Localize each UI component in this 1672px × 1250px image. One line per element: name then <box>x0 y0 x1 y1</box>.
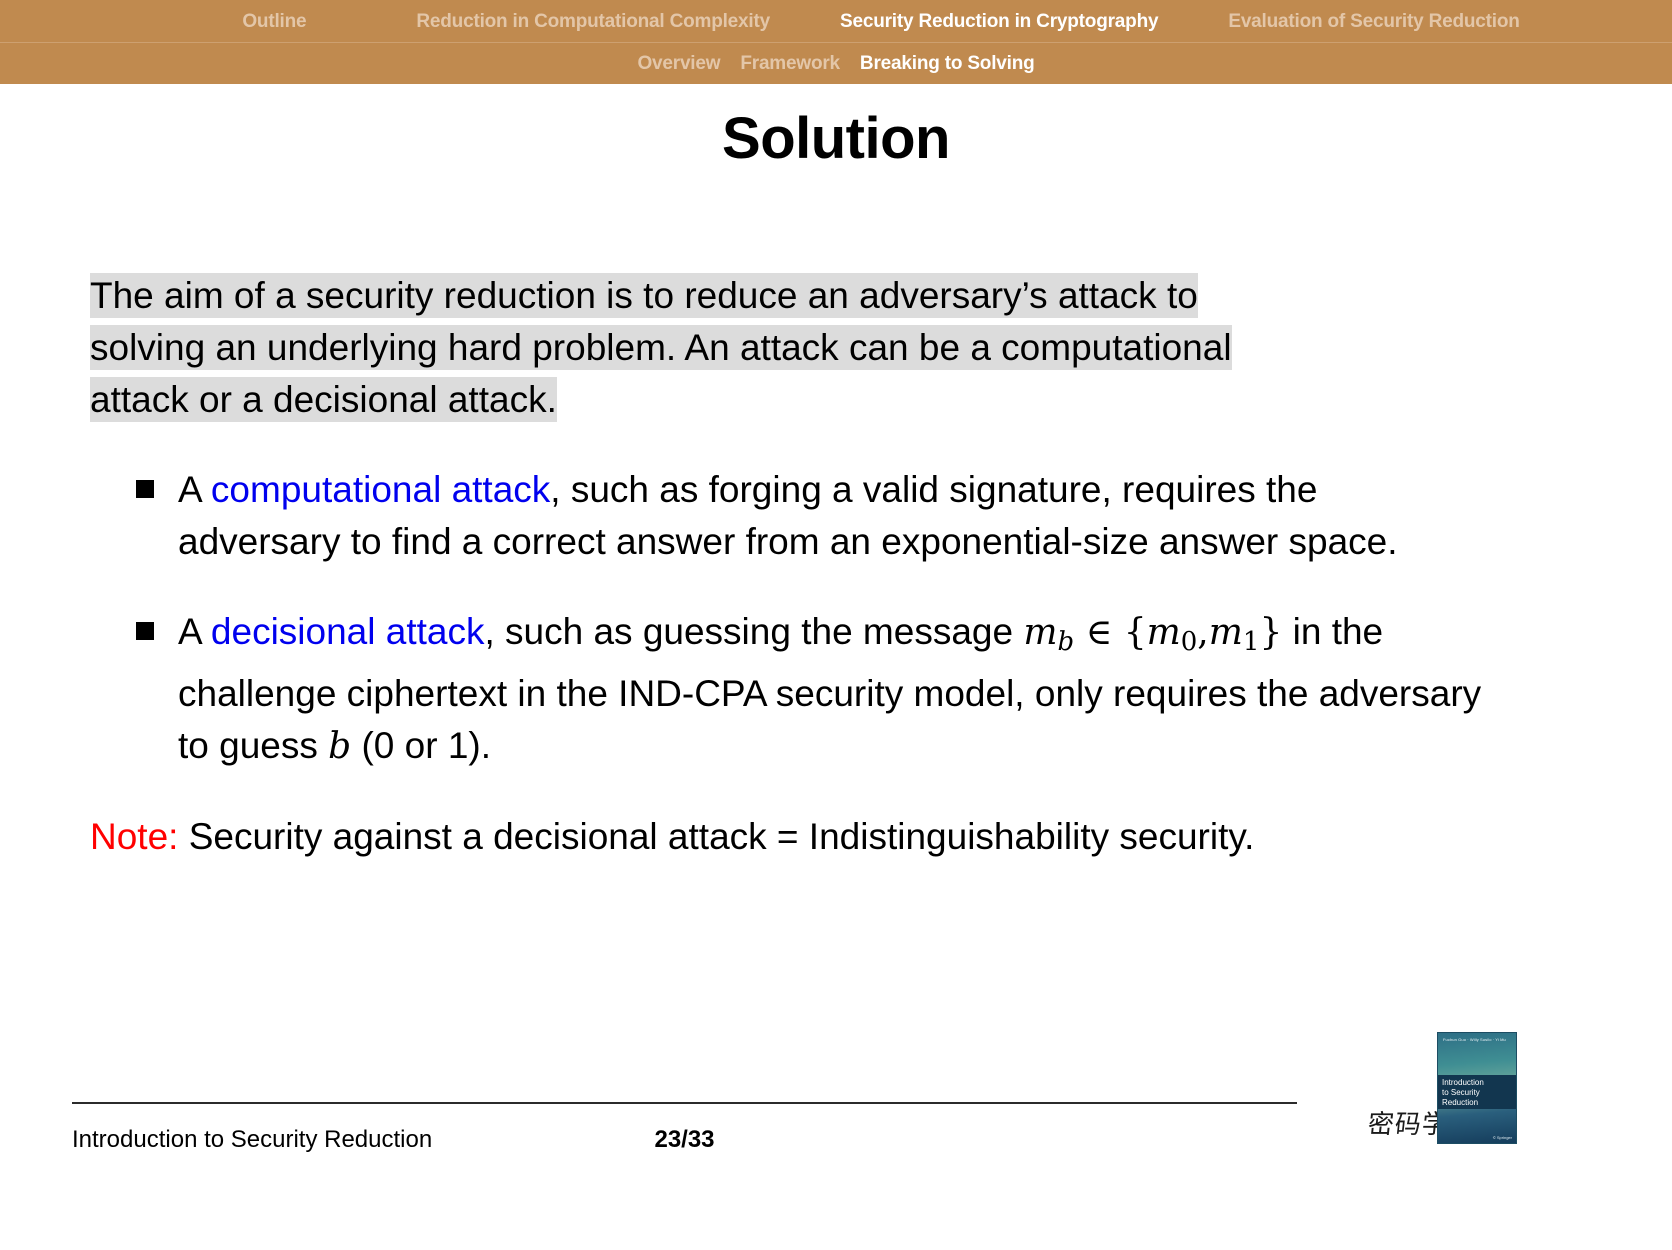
emphasis-computational-attack: computational attack <box>211 469 550 510</box>
book-cover-authors: Fuchun Guo · Willy Susilo · Yi Mu <box>1443 1037 1512 1042</box>
math-m-b: m <box>1023 612 1057 653</box>
math-sub-b: b <box>1057 627 1074 657</box>
math-m-0: m <box>1147 612 1181 653</box>
note-text: Security against a decisional attack = I… <box>178 816 1254 857</box>
emphasis-decisional-attack: decisional attack <box>211 611 485 652</box>
bullet-list: A computational attack, such as forging … <box>90 464 1490 773</box>
highlight-block-line-1: The aim of a security reduction is to re… <box>90 273 1198 318</box>
list-item: A computational attack, such as forging … <box>90 464 1490 568</box>
math-comma: , <box>1197 612 1208 653</box>
math-brace-open: { <box>1124 612 1147 653</box>
bullet-text-decisional-attack: A decisional attack, such as guessing th… <box>178 606 1490 773</box>
footer: Introduction to Security Reduction 23/33 <box>72 1112 1297 1168</box>
book-cover-title-line-1: Introduction <box>1442 1078 1512 1088</box>
highlight-block-line-3: attack or a decisional attack. <box>90 377 557 422</box>
nav-subsection-row: Overview Framework Breaking to Solving <box>0 42 1672 84</box>
list-item: A decisional attack, such as guessing th… <box>90 606 1490 773</box>
bullet-rest-1: , such as guessing the message <box>484 611 1023 652</box>
bullet-lead: A <box>178 611 211 652</box>
math-brace-close: } <box>1259 612 1282 653</box>
nav-section-row: Outline Reduction in Computational Compl… <box>0 0 1672 42</box>
math-b: b <box>328 726 351 767</box>
note-label: Note: <box>90 816 178 857</box>
nav-item-outline[interactable]: Outline <box>242 12 306 31</box>
navigation-bar: Outline Reduction in Computational Compl… <box>0 0 1672 84</box>
highlight-block-line-2: solving an underlying hard problem. An a… <box>90 325 1232 370</box>
math-sub-0: 0 <box>1181 627 1198 657</box>
nav-subitem-breaking-to-solving[interactable]: Breaking to Solving <box>850 54 1045 73</box>
nav-item-reduction-in-computational-complexity[interactable]: Reduction in Computational Complexity <box>416 12 770 31</box>
nav-item-evaluation-of-security-reduction[interactable]: Evaluation of Security Reduction <box>1228 12 1519 31</box>
bullet-rest-3: (0 or 1). <box>351 725 491 766</box>
book-cover-thumbnail: Fuchun Guo · Willy Susilo · Yi Mu Introd… <box>1437 1032 1517 1144</box>
nav-subitem-overview[interactable]: Overview <box>627 54 730 73</box>
book-cover-title-line-3: Reduction <box>1442 1098 1512 1108</box>
bullet-text-computational-attack: A computational attack, such as forging … <box>178 464 1490 568</box>
page-title: Solution <box>0 105 1672 172</box>
math-element-of-symbol: ∈ <box>1086 612 1113 653</box>
nav-subitem-framework[interactable]: Framework <box>730 54 850 73</box>
nav-item-security-reduction-in-cryptography[interactable]: Security Reduction in Cryptography <box>840 12 1158 31</box>
book-cover-title-line-2: to Security <box>1442 1088 1512 1098</box>
square-bullet-icon <box>136 480 154 498</box>
footer-divider <box>72 1102 1297 1104</box>
page-number: 23/33 <box>72 1126 1297 1154</box>
math-sub-1: 1 <box>1243 627 1260 657</box>
math-m-1: m <box>1209 612 1243 653</box>
bullet-lead: A <box>178 469 211 510</box>
book-cover-publisher: © Springer <box>1493 1135 1512 1140</box>
highlight-block: The aim of a security reduction is to re… <box>90 270 1490 426</box>
note-line: Note: Security against a decisional atta… <box>90 811 1490 863</box>
square-bullet-icon <box>136 622 154 640</box>
slide-content: The aim of a security reduction is to re… <box>90 270 1490 863</box>
book-cover-title: Introduction to Security Reduction <box>1438 1075 1516 1109</box>
